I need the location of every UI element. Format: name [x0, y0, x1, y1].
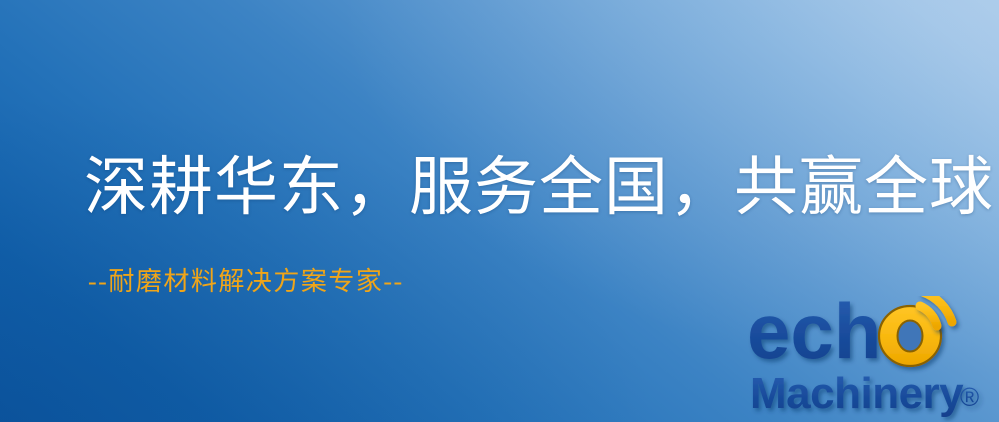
- registered-mark-icon: ®: [960, 382, 979, 412]
- logo-text-ech: ech: [747, 296, 881, 375]
- logo-subbrand: Machinery ®: [750, 369, 979, 418]
- banner-headline: 深耕华东，服务全国，共赢全球: [84, 151, 994, 225]
- echo-machinery-logo: ech Machinery ®: [747, 296, 999, 422]
- logo-wordmark-echo: ech: [747, 296, 881, 375]
- logo-text-machinery: Machinery: [750, 369, 964, 418]
- banner-subtitle: --耐磨材料解决方案专家--: [88, 267, 404, 297]
- hero-banner: 深耕华东，服务全国，共赢全球 --耐磨材料解决方案专家--: [0, 0, 999, 422]
